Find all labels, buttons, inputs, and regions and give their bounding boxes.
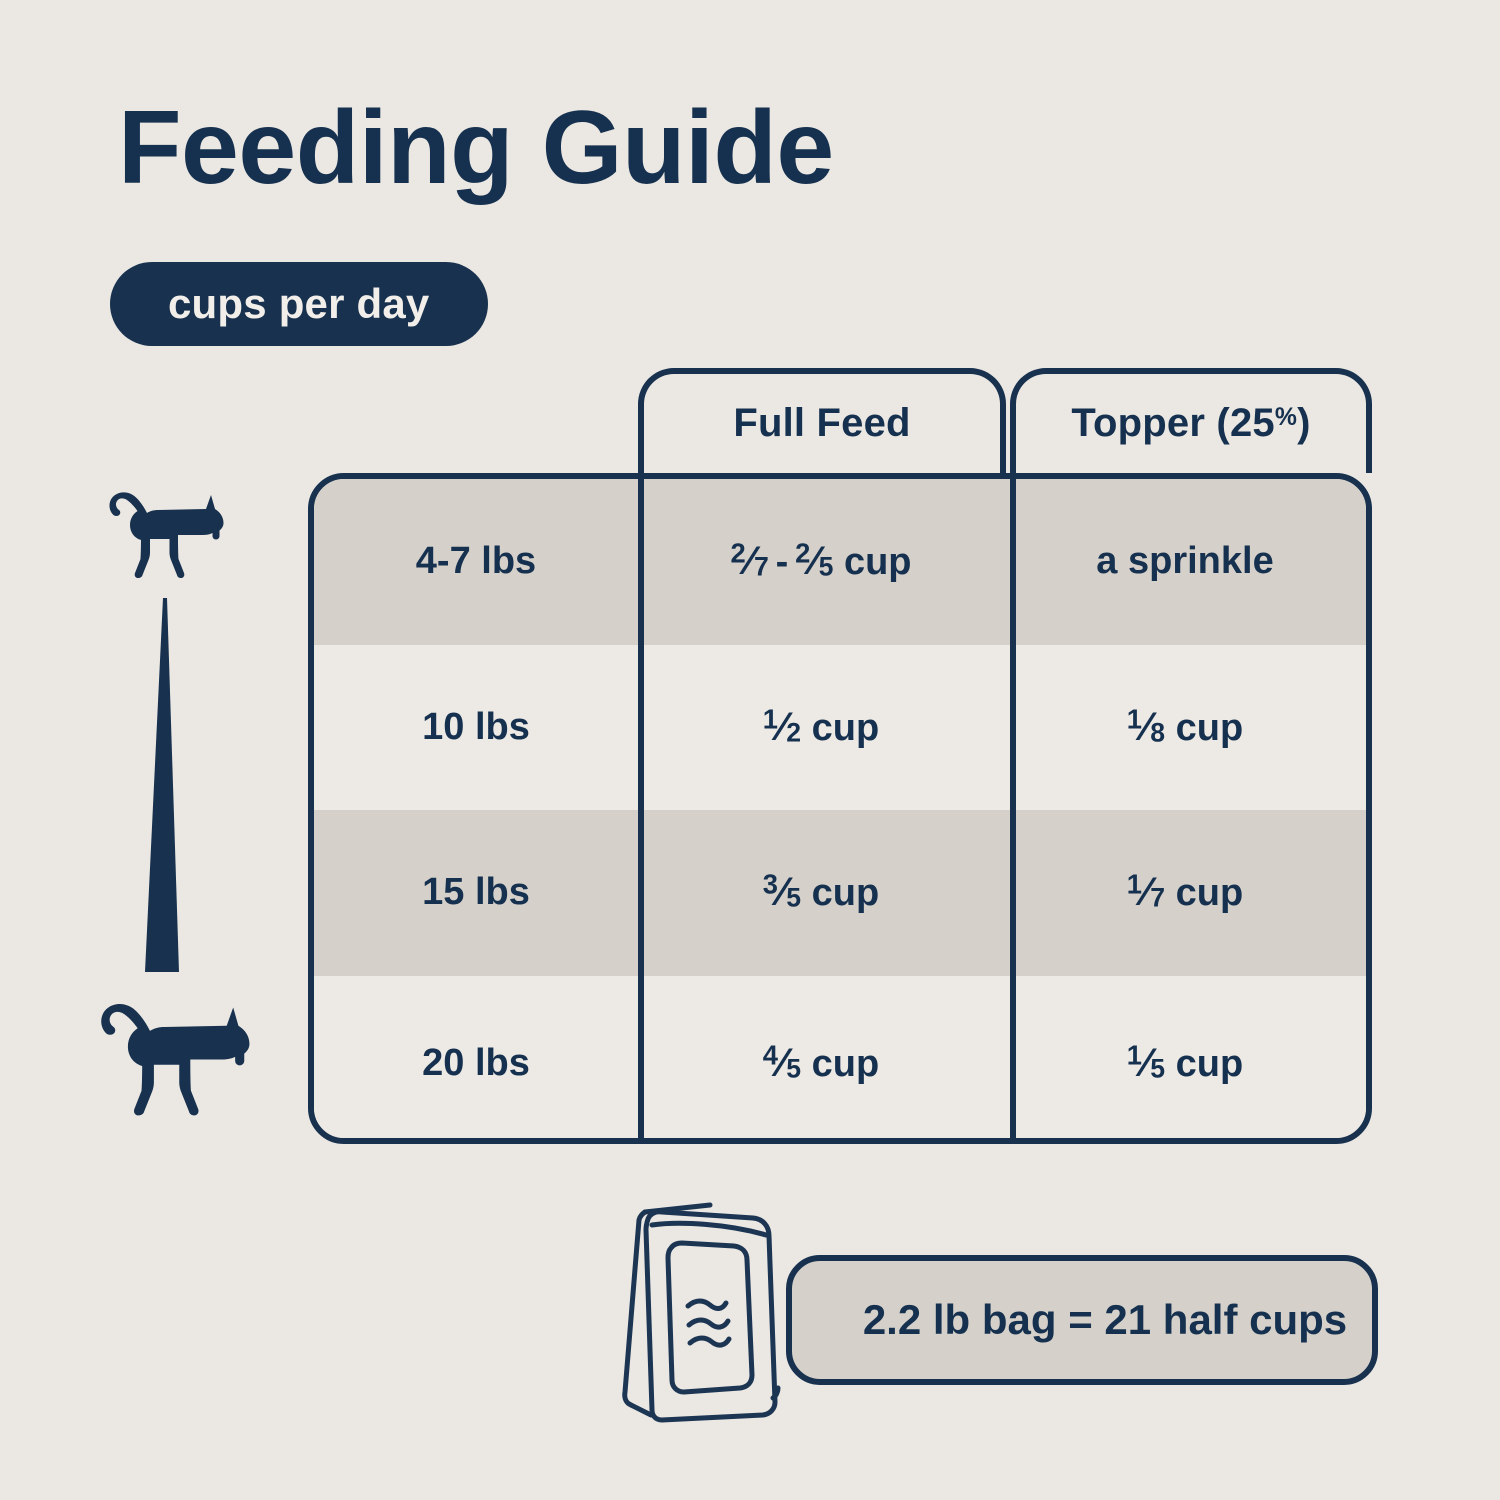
frac-denominator: 5 [786,1053,801,1083]
cell-full-feed-value: 3⁄5 cup [763,870,879,915]
cell-weight: 10 lbs [314,645,638,811]
frac-slash: ⁄ [746,539,754,583]
frac-denominator: 5 [786,883,801,913]
cell-full-feed: 2⁄7-2⁄5 cup [638,479,1004,645]
cell-full-feed-value: 4⁄5 cup [763,1041,879,1086]
column-header-topper: Topper (25%) [1010,368,1372,473]
cell-weight-label: 10 lbs [422,706,530,749]
topper-head-text: Topper (25 [1071,401,1275,445]
cat-silhouette-large-icon [84,988,268,1118]
frac-unit [833,541,844,583]
frac-denominator: 8 [1150,717,1165,747]
cell-full-feed: 4⁄5 cup [638,976,1004,1145]
frac-numerator: 2 [731,538,746,569]
cell-topper-value: a sprinkle [1096,540,1273,583]
frac-unit [801,1043,812,1085]
frac-denominator: 2 [786,717,801,747]
frac-numerator: 1 [1127,703,1142,734]
topper-percent-sup: % [1275,404,1297,431]
cell-full-feed: 3⁄5 cup [638,810,1004,976]
frac-unit-label: cup [812,1043,880,1085]
bag-callout-group: 2.2 lb bag = 21 half cups [618,1200,1378,1428]
table-row: 20 lbs 4⁄5 cup 1⁄5 cup [314,976,1366,1145]
cups-per-day-badge-label: cups per day [168,280,430,328]
frac-unit [1165,872,1176,914]
cups-per-day-badge: cups per day [110,262,488,346]
frac-unit-label: cup [1176,707,1244,749]
frac-denominator: 7 [1150,883,1165,913]
frac-unit-label: cup [812,872,880,914]
frac-unit-label: cup [1176,872,1244,914]
frac-numerator-2: 2 [795,538,810,569]
frac-unit [801,872,812,914]
bag-callout-bar: 2.2 lb bag = 21 half cups [786,1255,1378,1385]
table-header-row: Full Feed Topper (25%) [308,368,1372,473]
table-row: 4-7 lbs 2⁄7-2⁄5 cup a sprinkle [314,479,1366,645]
cell-topper: a sprinkle [1004,479,1366,645]
cell-topper-value: 1⁄8 cup [1127,705,1243,750]
cell-topper: 1⁄7 cup [1004,810,1366,976]
cell-weight: 20 lbs [314,976,638,1145]
range-dash: - [769,541,795,583]
frac-unit-label: cup [812,707,880,749]
column-divider-2 [1010,479,1016,1138]
cell-full-feed-value: 1⁄2 cup [763,705,879,750]
column-divider-1 [638,479,644,1138]
infographic-canvas: Feeding Guide cups per day Full Feed [0,0,1500,1500]
cell-weight: 15 lbs [314,810,638,976]
page-title: Feeding Guide [118,96,834,200]
bag-callout-label: 2.2 lb bag = 21 half cups [817,1296,1347,1344]
feeding-table: Full Feed Topper (25%) 4-7 lbs 2⁄7-2⁄5 c… [308,368,1372,1144]
frac-unit-label: cup [844,541,912,583]
cell-weight: 4-7 lbs [314,479,638,645]
frac-numerator: 1 [1127,1039,1142,1070]
frac-denominator: 7 [754,552,769,582]
cell-full-feed: 1⁄2 cup [638,645,1004,811]
frac-unit-label: cup [1176,1043,1244,1085]
cell-topper-value: 1⁄5 cup [1127,1041,1243,1086]
food-bag-icon [618,1200,808,1428]
size-gradient-wedge-icon [133,598,197,978]
cell-weight-label: 20 lbs [422,1042,530,1085]
column-header-topper-label: Topper (25%) [1071,401,1310,446]
topper-tail-text: ) [1297,401,1311,445]
cell-topper-value: 1⁄7 cup [1127,870,1243,915]
frac-unit [1165,707,1176,749]
column-header-full-feed: Full Feed [638,368,1006,473]
cell-full-feed-value: 2⁄7-2⁄5 cup [731,539,912,584]
column-header-full-feed-label: Full Feed [733,401,910,446]
table-body: 4-7 lbs 2⁄7-2⁄5 cup a sprinkle 10 lbs 1⁄… [308,473,1372,1144]
table-row: 15 lbs 3⁄5 cup 1⁄7 cup [314,810,1366,976]
frac-denominator: 5 [1150,1053,1165,1083]
frac-slash-2: ⁄ [810,539,818,583]
frac-numerator: 3 [763,869,778,900]
cell-weight-label: 4-7 lbs [416,540,536,583]
table-row: 10 lbs 1⁄2 cup 1⁄8 cup [314,645,1366,811]
cell-topper: 1⁄8 cup [1004,645,1366,811]
cell-weight-label: 15 lbs [422,871,530,914]
frac-numerator: 1 [1127,869,1142,900]
frac-unit [801,707,812,749]
cell-topper: 1⁄5 cup [1004,976,1366,1145]
frac-numerator: 1 [763,703,778,734]
frac-numerator: 4 [763,1039,778,1070]
frac-unit [1165,1043,1176,1085]
size-scale-column [78,470,278,1130]
frac-denominator-2: 5 [819,552,834,582]
cat-silhouette-small-icon [108,480,226,580]
